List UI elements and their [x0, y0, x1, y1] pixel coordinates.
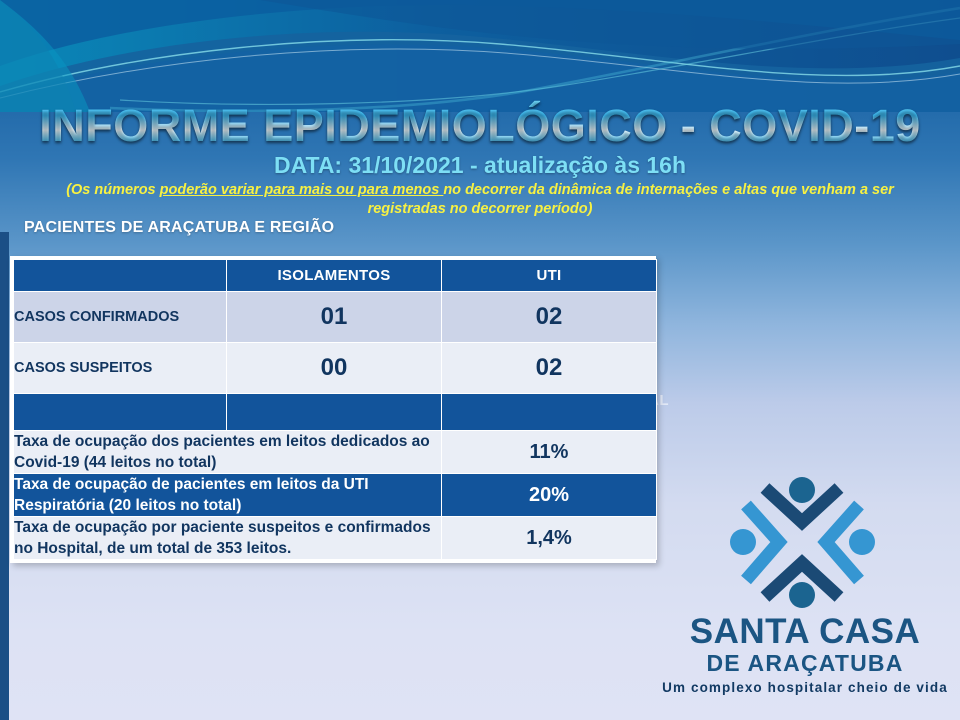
- wave-graphic: [0, 0, 960, 112]
- occupancy-value-uti-beds: 20%: [442, 474, 657, 517]
- note-suffix: no decorrer da dinâmica de internações e…: [368, 182, 894, 217]
- data-table-container: ISOLAMENTOS UTI CASOS CONFIRMADOS 01 02 …: [10, 256, 656, 563]
- separator-cell: [14, 394, 227, 431]
- page-title: INFORME EPIDEMIOLÓGICO - COVID-19: [0, 100, 960, 152]
- note-underlined: poderão variar para mais ou para menos: [160, 182, 444, 198]
- logo-name-line1: SANTA CASA: [655, 612, 955, 652]
- left-accent-bar: [0, 232, 9, 720]
- occupancy-row: Taxa de ocupação dos pacientes em leitos…: [14, 431, 657, 474]
- covid-data-table: ISOLAMENTOS UTI CASOS CONFIRMADOS 01 02 …: [13, 259, 657, 560]
- note-prefix: (Os números: [66, 182, 159, 198]
- slide-root: INFORME EPIDEMIOLÓGICO - COVID-19 INFORM…: [0, 0, 960, 720]
- row-label-suspeitos: CASOS SUSPEITOS: [14, 343, 227, 394]
- date-line: DATA: 31/10/2021 - atualização às 16h: [0, 152, 960, 179]
- separator-cell: [442, 394, 657, 431]
- occupancy-value-hospital-total: 1,4%: [442, 517, 657, 560]
- santa-casa-logo: SANTA CASA DE ARAÇATUBA Um complexo hosp…: [655, 470, 955, 700]
- header-cell-isolamentos: ISOLAMENTOS: [227, 260, 442, 292]
- occupancy-label-uti-beds: Taxa de ocupação de pacientes em leitos …: [14, 474, 442, 517]
- disclaimer-note: (Os números poderão variar para mais ou …: [40, 181, 920, 219]
- occupancy-row: Taxa de ocupação de pacientes em leitos …: [14, 474, 657, 517]
- value-confirmados-uti: 02: [442, 292, 657, 343]
- table-separator-band: [14, 394, 657, 431]
- logo-name-line2: DE ARAÇATUBA: [655, 650, 955, 677]
- top-wave-banner: [0, 0, 960, 112]
- value-suspeitos-uti: 02: [442, 343, 657, 394]
- occupancy-value-covid-beds: 11%: [442, 431, 657, 474]
- people-pinwheel-icon: [715, 470, 890, 615]
- separator-cell: [227, 394, 442, 431]
- header-cell-blank: [14, 260, 227, 292]
- occupancy-row: Taxa de ocupação por paciente suspeitos …: [14, 517, 657, 560]
- header-cell-uti: UTI: [442, 260, 657, 292]
- occupancy-label-hospital-total: Taxa de ocupação por paciente suspeitos …: [14, 517, 442, 560]
- table-row: CASOS SUSPEITOS 00 02: [14, 343, 657, 394]
- logo-tagline: Um complexo hospitalar cheio de vida: [645, 680, 960, 695]
- value-confirmados-isolamentos: 01: [227, 292, 442, 343]
- table-header-row: ISOLAMENTOS UTI: [14, 260, 657, 292]
- section-label: PACIENTES DE ARAÇATUBA E REGIÃO: [24, 219, 334, 237]
- row-label-confirmados: CASOS CONFIRMADOS: [14, 292, 227, 343]
- occupancy-label-covid-beds: Taxa de ocupação dos pacientes em leitos…: [14, 431, 442, 474]
- table-row: CASOS CONFIRMADOS 01 02: [14, 292, 657, 343]
- value-suspeitos-isolamentos: 00: [227, 343, 442, 394]
